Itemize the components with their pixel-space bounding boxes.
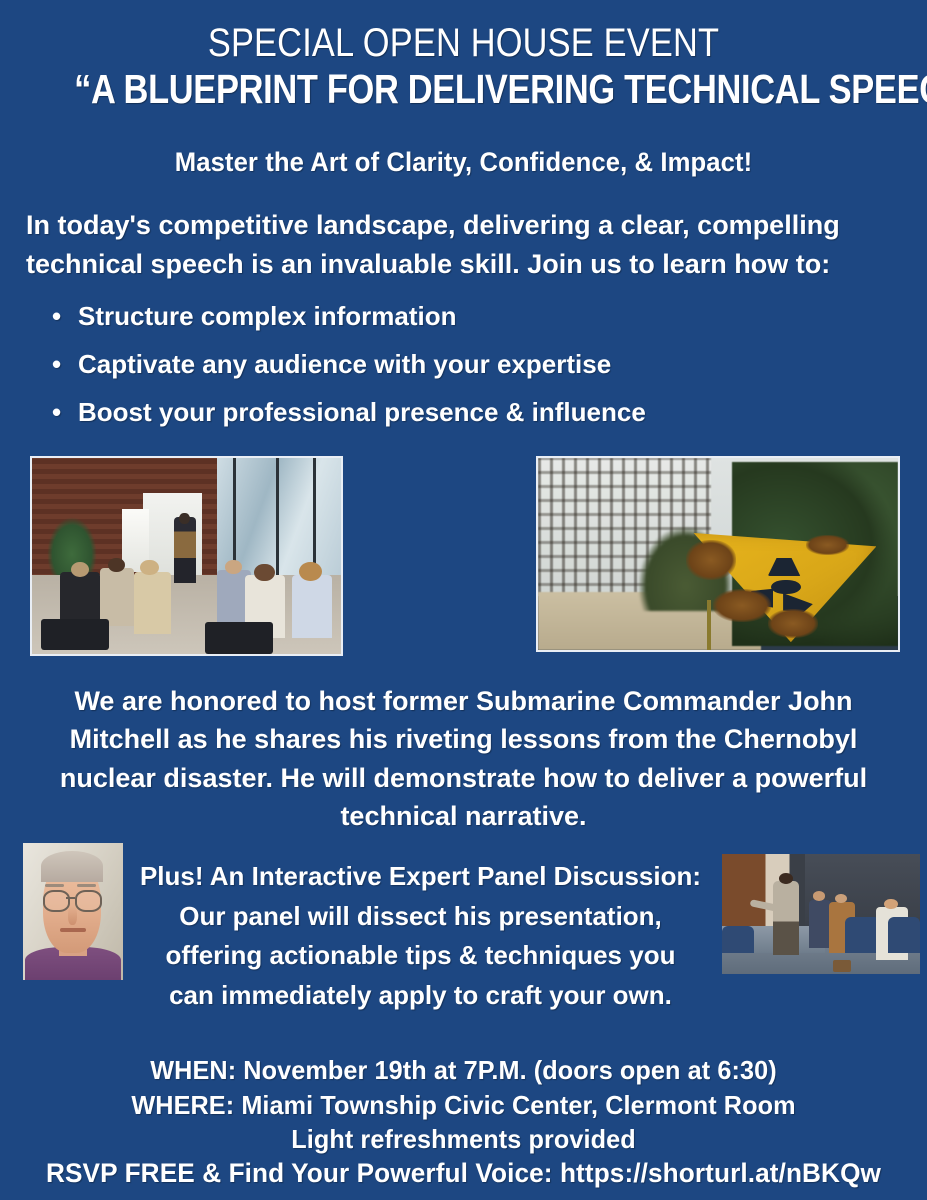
page-title-line-2: “A BLUEPRINT FOR DELIVERING TECHNICAL SP… bbox=[74, 67, 853, 112]
attendee-head-shape bbox=[140, 560, 159, 576]
list-item: • Structure complex information bbox=[0, 292, 927, 340]
eyeglass-bridge-shape bbox=[66, 897, 75, 899]
hair-shape bbox=[41, 851, 103, 881]
presenter-body-shape bbox=[174, 517, 196, 584]
event-where: WHERE: Miami Township Civic Center, Cler… bbox=[14, 1088, 913, 1122]
event-when: WHEN: November 19th at 7P.M. (doors open… bbox=[14, 1053, 913, 1087]
bullet-icon: • bbox=[52, 388, 61, 436]
speaker-portrait-photo bbox=[23, 843, 123, 980]
expert-panel-photo bbox=[722, 854, 920, 974]
panel-line-3: offering actionable tips & techniques yo… bbox=[128, 936, 713, 976]
nose-shape bbox=[68, 906, 77, 925]
speaker-body-shape bbox=[773, 881, 799, 955]
seminar-room-photo bbox=[30, 456, 343, 656]
headline-block: SPECIAL OPEN HOUSE EVENT “A BLUEPRINT FO… bbox=[0, 0, 927, 178]
rust-patch-shape bbox=[686, 540, 737, 580]
shoe-shape bbox=[833, 960, 851, 972]
armchair-shape bbox=[722, 926, 754, 952]
panelist-head-shape bbox=[835, 894, 847, 904]
armchair-shape bbox=[888, 917, 920, 953]
presenter-head-shape bbox=[179, 513, 190, 525]
attendee-head-shape bbox=[254, 564, 274, 582]
bullet-icon: • bbox=[52, 340, 61, 388]
list-item: • Captivate any audience with your exper… bbox=[0, 340, 927, 388]
radiation-warning-sign bbox=[682, 531, 876, 642]
mouth-shape bbox=[60, 928, 86, 932]
list-item-label: Boost your professional presence & influ… bbox=[78, 397, 646, 427]
rust-patch-shape bbox=[768, 609, 819, 638]
attendee-shape bbox=[134, 572, 171, 635]
page-subtitle: Master the Art of Clarity, Confidence, &… bbox=[23, 147, 904, 178]
benefits-list: • Structure complex information • Captiv… bbox=[0, 292, 927, 436]
armchair-shape bbox=[845, 917, 881, 953]
panelist-shape bbox=[809, 900, 831, 948]
radiation-trefoil-icon bbox=[771, 580, 800, 594]
panelist-head-shape bbox=[813, 891, 825, 901]
rust-patch-shape bbox=[806, 535, 849, 555]
page-title-line-1: SPECIAL OPEN HOUSE EVENT bbox=[65, 22, 862, 65]
event-details: WHEN: November 19th at 7P.M. (doors open… bbox=[0, 1053, 927, 1192]
eyeglasses-icon bbox=[75, 890, 102, 912]
attendee-shape bbox=[292, 575, 332, 638]
list-item-label: Structure complex information bbox=[78, 301, 457, 331]
event-flyer: SPECIAL OPEN HOUSE EVENT “A BLUEPRINT FO… bbox=[0, 0, 927, 1200]
panel-line-1: Plus! An Interactive Expert Panel Discus… bbox=[128, 857, 713, 897]
rsvp-link[interactable]: RSVP FREE & Find Your Powerful Voice: ht… bbox=[14, 1156, 913, 1192]
attendee-head-shape bbox=[108, 558, 125, 573]
empty-chair-shape bbox=[205, 622, 273, 653]
list-item-label: Captivate any audience with your experti… bbox=[78, 349, 611, 379]
photo-row bbox=[0, 444, 927, 666]
bullet-icon: • bbox=[52, 292, 61, 340]
event-refreshments: Light refreshments provided bbox=[14, 1122, 913, 1156]
eyebrow-shape bbox=[45, 884, 64, 887]
panel-section: Plus! An Interactive Expert Panel Discus… bbox=[0, 841, 927, 1041]
honored-guest-paragraph: We are honored to host former Submarine … bbox=[0, 682, 927, 835]
list-item: • Boost your professional presence & inf… bbox=[0, 388, 927, 436]
intro-paragraph: In today's competitive landscape, delive… bbox=[0, 206, 927, 284]
panel-line-4: can immediately apply to craft your own. bbox=[128, 976, 713, 1016]
panel-description: Plus! An Interactive Expert Panel Discus… bbox=[128, 857, 713, 1015]
attendee-shape bbox=[100, 568, 134, 627]
empty-chair-shape bbox=[41, 619, 109, 650]
rust-patch-shape bbox=[713, 589, 771, 622]
panel-line-2: Our panel will dissect his presentation, bbox=[128, 897, 713, 937]
chernobyl-radiation-sign-photo bbox=[536, 456, 900, 652]
eyeglasses-icon bbox=[43, 890, 70, 912]
eyebrow-shape bbox=[77, 884, 96, 887]
